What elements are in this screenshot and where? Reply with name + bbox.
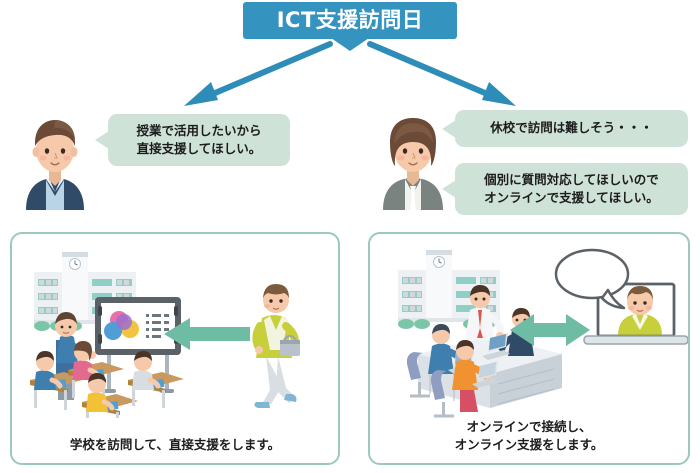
walking-support-staff-with-bag bbox=[254, 284, 300, 408]
school-classroom-visit-scene bbox=[12, 234, 338, 414]
male-teacher-avatar bbox=[18, 112, 92, 210]
bubble-line: 授業で活用したいから bbox=[136, 122, 261, 140]
bubble-line: オンラインで支援してほしい。 bbox=[484, 189, 659, 207]
panel-caption-right: オンラインで接続し、 オンライン支援をします。 bbox=[370, 418, 688, 454]
bubble-line: 休校で訪問は難しそう・・・ bbox=[490, 119, 653, 137]
speech-bubble-right-1: 休校で訪問は難しそう・・・ bbox=[455, 110, 688, 147]
bubble-line: 個別に質問対応してほしいので bbox=[484, 171, 659, 189]
caption-line: オンラインで接続し、 bbox=[370, 418, 688, 436]
panel-caption-left: 学校を訪問して、直接支援をします。 bbox=[12, 436, 338, 454]
caption-line: オンライン支援をします。 bbox=[370, 436, 688, 454]
speech-bubble-right-2: 個別に質問対応してほしいので オンラインで支援してほしい。 bbox=[455, 163, 688, 215]
bubble-line: 直接支援してほしい。 bbox=[137, 140, 262, 158]
online-support-scene bbox=[370, 234, 688, 414]
diagram-canvas: ICT支援訪問日 bbox=[0, 0, 700, 473]
arrow-to-right-branch bbox=[362, 40, 522, 112]
panel-school-visit: 学校を訪問して、直接支援をします。 bbox=[10, 232, 340, 465]
panel-online-support: オンラインで接続し、 オンライン支援をします。 bbox=[368, 232, 690, 465]
title-banner: ICT支援訪問日 bbox=[243, 2, 457, 39]
female-teacher-avatar bbox=[376, 112, 450, 210]
speech-bubble-left: 授業で活用したいから 直接支援してほしい。 bbox=[108, 114, 290, 166]
caption-line: 学校を訪問して、直接支援をします。 bbox=[12, 436, 338, 454]
page-title: ICT支援訪問日 bbox=[277, 10, 424, 31]
arrow-to-left-branch bbox=[178, 40, 338, 112]
